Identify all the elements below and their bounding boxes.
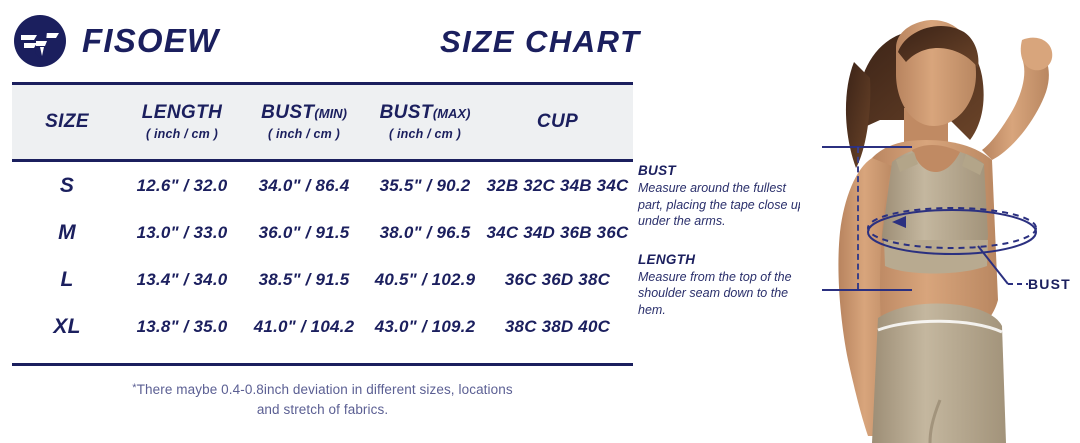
table-row: L 13.4" / 34.0 38.5" / 91.5 40.5" / 102.… (12, 256, 633, 303)
table-row: S 12.6" / 32.0 34.0" / 86.4 35.5" / 90.2… (12, 162, 633, 209)
cell-bust-max: 38.0" / 96.5 (355, 209, 495, 256)
brand-name: FISOEW (82, 22, 219, 60)
cell-bust-max: 40.5" / 102.9 (355, 256, 495, 303)
table-row: M 13.0" / 33.0 36.0" / 91.5 38.0" / 96.5… (12, 209, 633, 256)
size-chart-panel: FISOEW SIZE CHART SIZE LENGTH ( inch / c… (0, 0, 645, 443)
guide-body-bust: Measure around the fullest part, placing… (638, 180, 808, 230)
column-header-length-label: LENGTH (142, 102, 223, 123)
guide-body-length: Measure from the top of the shoulder sea… (638, 269, 808, 319)
cell-bust-min: 34.0" / 86.4 (234, 162, 374, 209)
cell-bust-min: 38.5" / 91.5 (234, 256, 374, 303)
cell-bust-max: 43.0" / 109.2 (355, 303, 495, 350)
bust-measure-annotation (800, 0, 1080, 443)
cell-length: 13.0" / 33.0 (112, 209, 252, 256)
cell-cup: 34C 34D 36B 36C (482, 209, 633, 256)
size-table: SIZE LENGTH ( inch / cm ) BUST(MIN) ( in… (12, 82, 633, 362)
guide-block-length: LENGTH Measure from the top of the shoul… (638, 252, 808, 319)
page-title: SIZE CHART (440, 24, 640, 60)
column-header-bust-max: BUST(MAX) ( inch / cm ) (355, 85, 495, 159)
cell-size: M (22, 209, 112, 256)
cell-bust-min: 41.0" / 104.2 (234, 303, 374, 350)
column-header-bust-max-units: ( inch / cm ) (355, 127, 495, 141)
column-header-length-units: ( inch / cm ) (112, 127, 252, 141)
guide-block-bust: BUST Measure around the fullest part, pl… (638, 163, 808, 230)
brand-header: FISOEW SIZE CHART (0, 0, 645, 80)
table-bottom-divider (12, 363, 633, 366)
model-photo: LENGTH BUST (800, 0, 1080, 443)
cell-length: 12.6" / 32.0 (112, 162, 252, 209)
cell-length: 13.8" / 35.0 (112, 303, 252, 350)
column-header-cup-label: CUP (537, 111, 578, 132)
cell-cup: 36C 36D 38C (482, 256, 633, 303)
cell-bust-min: 36.0" / 91.5 (234, 209, 374, 256)
table-header-row: SIZE LENGTH ( inch / cm ) BUST(MIN) ( in… (12, 82, 633, 162)
column-header-size: SIZE (22, 85, 112, 159)
measurement-guide: BUST Measure around the fullest part, pl… (638, 163, 808, 340)
column-header-cup: CUP (482, 85, 633, 159)
deviation-footnote: *There maybe 0.4-0.8inch deviation in di… (12, 380, 633, 421)
cell-bust-max: 35.5" / 90.2 (355, 162, 495, 209)
cell-cup: 38C 38D 40C (482, 303, 633, 350)
cell-size: L (22, 256, 112, 303)
guide-title-length: LENGTH (638, 252, 808, 267)
column-header-bust-min-label: BUST (261, 102, 314, 123)
column-header-size-label: SIZE (45, 111, 89, 132)
guide-title-bust: BUST (638, 163, 808, 178)
cell-cup: 32B 32C 34B 34C (482, 162, 633, 209)
cell-size: XL (22, 303, 112, 350)
fisoew-f-emblem-icon (12, 13, 68, 69)
table-row: XL 13.8" / 35.0 41.0" / 104.2 43.0" / 10… (12, 303, 633, 350)
column-header-bust-max-qualifier: (MAX) (433, 106, 471, 121)
footnote-line-2: and stretch of fabrics. (257, 402, 388, 417)
cell-length: 13.4" / 34.0 (112, 256, 252, 303)
column-header-bust-min-qualifier: (MIN) (314, 106, 347, 121)
column-header-bust-max-label: BUST (380, 102, 433, 123)
footnote-line-1: There maybe 0.4-0.8inch deviation in dif… (137, 382, 513, 397)
column-header-length: LENGTH ( inch / cm ) (112, 85, 252, 159)
overlay-bust-label: BUST (1028, 276, 1071, 292)
column-header-bust-min: BUST(MIN) ( inch / cm ) (234, 85, 374, 159)
measurement-overlay: LENGTH BUST (800, 0, 1080, 443)
brand-logo-lockup: FISOEW (12, 13, 219, 69)
cell-size: S (22, 162, 112, 209)
column-header-bust-min-units: ( inch / cm ) (234, 127, 374, 141)
table-body: S 12.6" / 32.0 34.0" / 86.4 35.5" / 90.2… (12, 162, 633, 362)
